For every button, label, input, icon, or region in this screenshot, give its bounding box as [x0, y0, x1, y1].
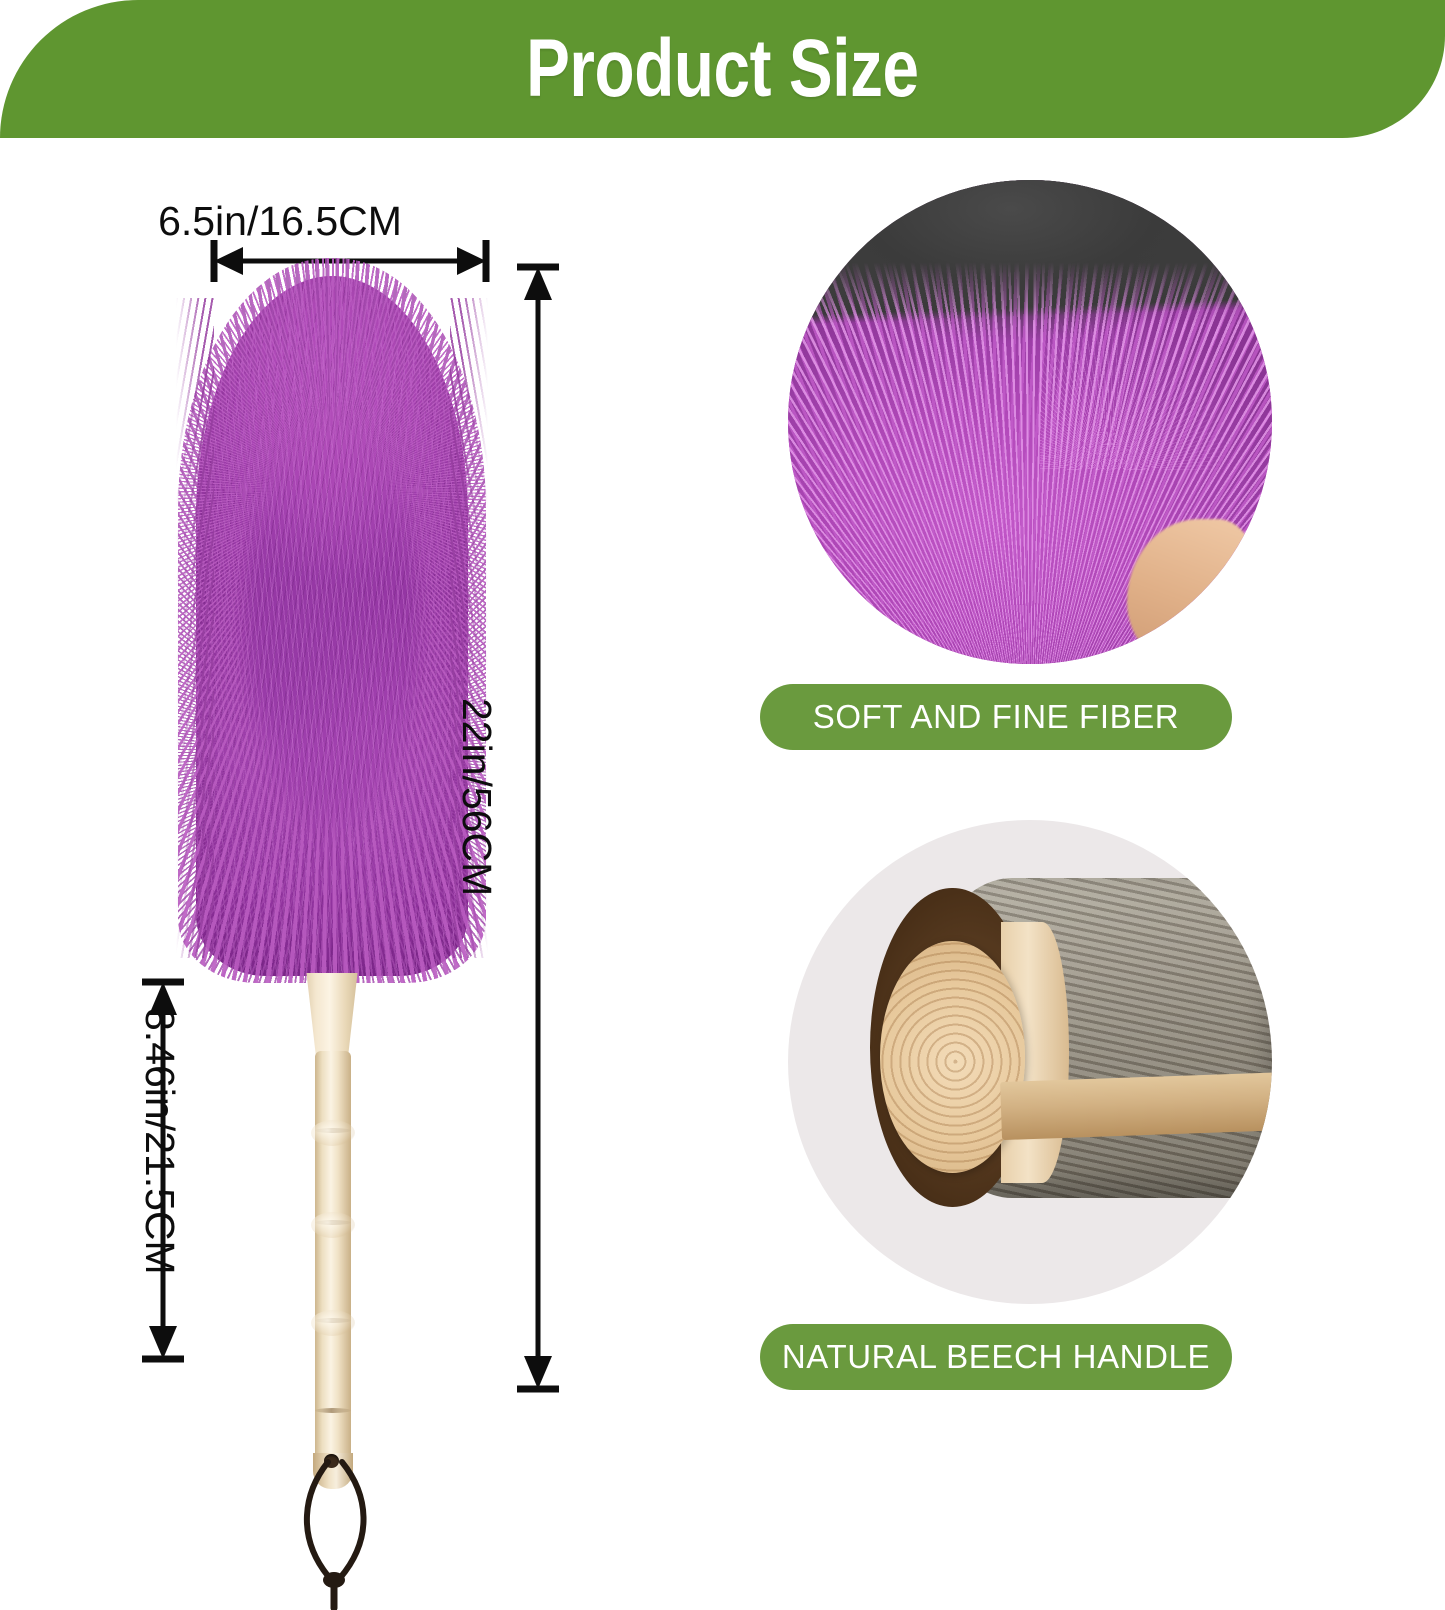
page-title: Product Size [526, 28, 919, 110]
duster-brush-head [190, 268, 474, 983]
dimension-length-label: 22in/56CM [453, 698, 500, 896]
beech-handle-photo [788, 820, 1272, 1304]
product-dimension-panel: 6.5in/16.5CM [0, 138, 740, 1445]
brush-edge-left [176, 298, 214, 958]
feature-column: SOFT AND FINE FIBER NATURAL BEECH HANDLE [760, 160, 1445, 1445]
feature-block-natural-beech-handle: NATURAL BEECH HANDLE [760, 820, 1300, 1390]
header-banner: Product Size [0, 0, 1445, 138]
dimension-handle-label: 8.46in/21.5CM [136, 1008, 183, 1275]
handle-ring-4 [315, 1408, 351, 1413]
dimension-length-arrow [500, 258, 576, 1398]
feature-label-text: NATURAL BEECH HANDLE [782, 1338, 1210, 1376]
handle-bulge-1 [311, 1120, 355, 1146]
hanging-loop-cord [278, 1458, 394, 1610]
feature-label-text: SOFT AND FINE FIBER [813, 698, 1180, 736]
feature-label-soft-and-fine-fiber: SOFT AND FINE FIBER [760, 684, 1232, 750]
fiber-wisps [1040, 238, 1272, 470]
duster-illustration [182, 268, 482, 1508]
feature-block-soft-and-fine-fiber: SOFT AND FINE FIBER [760, 180, 1300, 750]
handle-bulge-2 [311, 1212, 355, 1238]
fiber-closeup-photo [788, 180, 1272, 664]
brush-fuzz-fringe [178, 258, 486, 983]
handle-shaft [315, 1051, 351, 1469]
wood-handle-rod [1000, 1071, 1272, 1139]
handle-bulge-3 [311, 1310, 355, 1336]
feature-label-natural-beech-handle: NATURAL BEECH HANDLE [760, 1324, 1232, 1390]
handle-neck [303, 973, 361, 1055]
